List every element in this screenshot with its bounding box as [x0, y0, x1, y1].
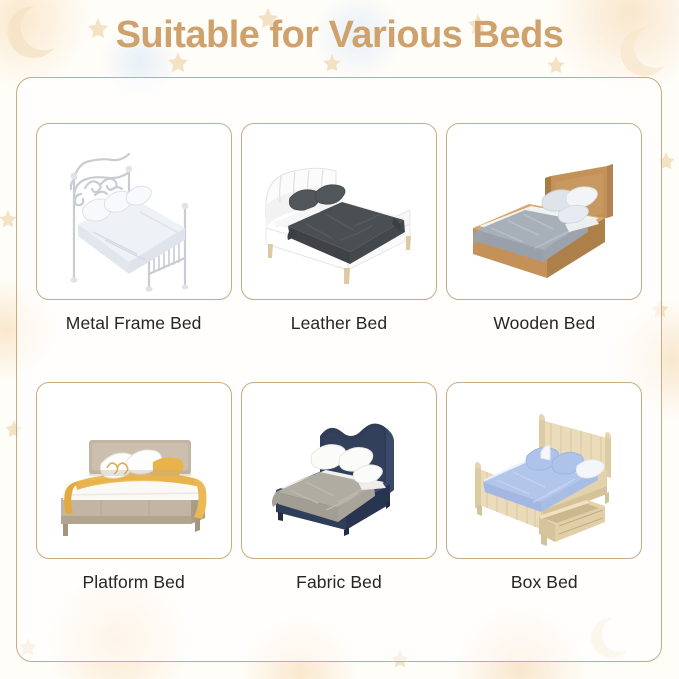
bed-card-platform-bed[interactable]	[36, 382, 232, 559]
bed-item-metal-frame-bed[interactable]: Metal Frame Bed	[33, 123, 234, 382]
bed-card-metal-frame-bed[interactable]	[36, 123, 232, 300]
bed-label-wooden-bed: Wooden Bed	[493, 313, 595, 334]
bed-label-box-bed: Box Bed	[511, 572, 578, 593]
fabric-bed-illustration	[250, 390, 428, 550]
metal-frame-bed-illustration	[45, 132, 223, 292]
leather-bed-illustration	[250, 132, 428, 292]
bed-card-wooden-bed[interactable]	[446, 123, 642, 300]
bed-item-wooden-bed[interactable]: Wooden Bed	[444, 123, 645, 382]
bed-item-platform-bed[interactable]: Platform Bed	[33, 382, 234, 641]
box-bed-illustration	[455, 390, 633, 550]
bed-card-box-bed[interactable]	[446, 382, 642, 559]
bed-label-leather-bed: Leather Bed	[291, 313, 387, 334]
wooden-bed-illustration	[455, 132, 633, 292]
page-title: Suitable for Various Beds	[0, 14, 679, 57]
bed-label-platform-bed: Platform Bed	[82, 572, 184, 593]
bed-item-box-bed[interactable]: Box Bed	[444, 382, 645, 641]
bed-label-fabric-bed: Fabric Bed	[296, 572, 382, 593]
bed-item-leather-bed[interactable]: Leather Bed	[238, 123, 439, 382]
bed-types-grid: Metal Frame Bed	[16, 77, 662, 662]
bed-card-fabric-bed[interactable]	[241, 382, 437, 559]
platform-bed-illustration	[45, 390, 223, 550]
bed-card-leather-bed[interactable]	[241, 123, 437, 300]
bed-item-fabric-bed[interactable]: Fabric Bed	[238, 382, 439, 641]
bed-label-metal-frame-bed: Metal Frame Bed	[66, 313, 202, 334]
